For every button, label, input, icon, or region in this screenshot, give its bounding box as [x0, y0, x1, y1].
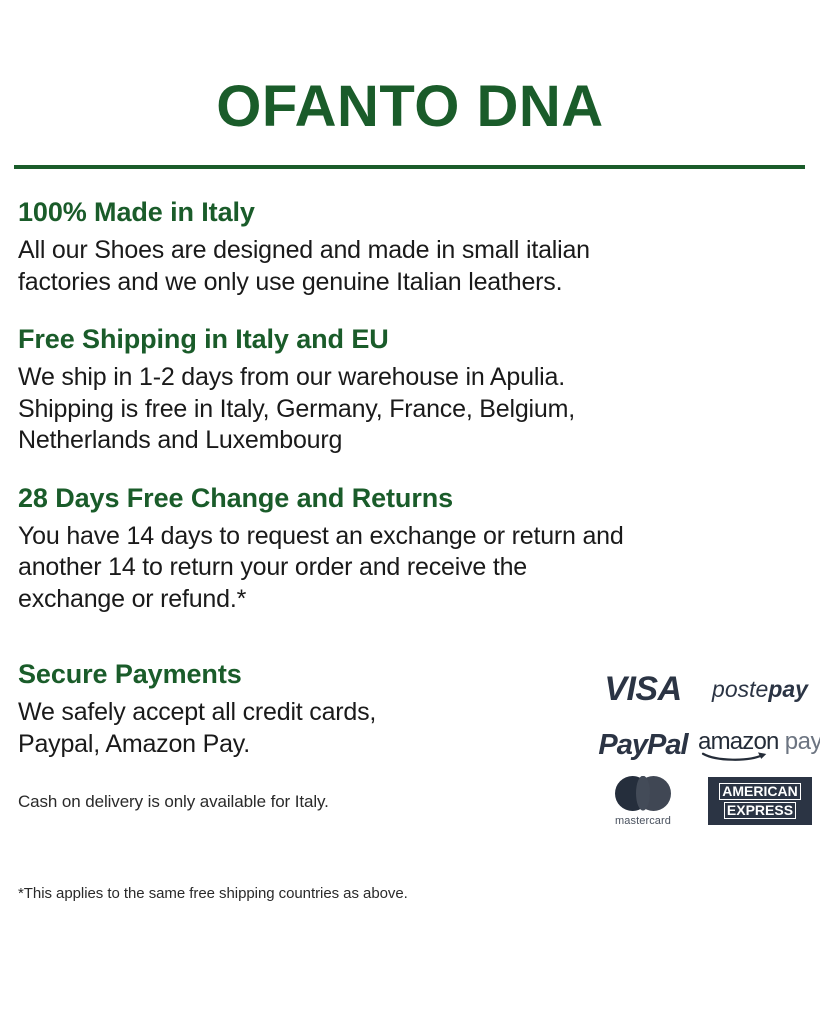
- mastercard-circles: [615, 776, 671, 811]
- visa-logo-cell: VISA: [586, 661, 700, 717]
- cash-on-delivery-note: Cash on delivery is only available for I…: [18, 792, 538, 812]
- mastercard-label: mastercard: [615, 816, 671, 827]
- amex-line-1: AMERICAN: [719, 783, 800, 800]
- body-line: Shipping is free in Italy, Germany, Fran…: [18, 394, 802, 426]
- section-heading: Free Shipping in Italy and EU: [18, 324, 802, 355]
- amex-line-2: EXPRESS: [724, 802, 796, 819]
- section-made-in-italy: 100% Made in Italy All our Shoes are des…: [18, 197, 802, 298]
- payment-logo-row: VISA postepay: [586, 661, 820, 717]
- title-divider: [14, 165, 805, 169]
- ofanto-dna-info-page: OFANTO DNA 100% Made in Italy All our Sh…: [0, 0, 820, 1024]
- body-line: factories and we only use genuine Italia…: [18, 267, 802, 299]
- section-body: All our Shoes are designed and made in s…: [18, 235, 802, 298]
- body-line: You have 14 days to request an exchange …: [18, 521, 802, 553]
- body-line: We ship in 1-2 days from our warehouse i…: [18, 362, 802, 394]
- page-header: OFANTO DNA: [0, 0, 820, 136]
- american-express-icon: AMERICAN EXPRESS: [708, 777, 812, 825]
- mastercard-icon: mastercard: [615, 776, 671, 827]
- amazon-smile-arrow-icon: [698, 751, 774, 762]
- visa-icon: VISA: [604, 672, 681, 706]
- mastercard-overlap: [636, 776, 650, 811]
- body-line: All our Shoes are designed and made in s…: [18, 235, 802, 267]
- body-line: another 14 to return your order and rece…: [18, 552, 802, 584]
- section-secure-payments: Secure Payments We safely accept all cre…: [18, 659, 802, 859]
- section-heading: 28 Days Free Change and Returns: [18, 483, 802, 514]
- section-body: We safely accept all credit cards, Paypa…: [18, 697, 538, 760]
- postepay-icon: postepay: [712, 678, 808, 701]
- body-line: Netherlands and Luxembourg: [18, 425, 802, 457]
- payments-text-block: Secure Payments We safely accept all cre…: [18, 659, 538, 812]
- body-line: Paypal, Amazon Pay.: [18, 729, 538, 761]
- postepay-bold-part: pay: [768, 676, 808, 702]
- body-line: We safely accept all credit cards,: [18, 697, 538, 729]
- payment-logo-row: mastercard AMERICAN EXPRESS: [586, 773, 820, 829]
- american-express-logo-cell: AMERICAN EXPRESS: [700, 773, 820, 829]
- postepay-light-part: poste: [712, 676, 768, 702]
- payment-logo-row: PayPal amazon pay: [586, 717, 820, 773]
- amazon-pay-wordmark: pay: [779, 728, 820, 755]
- postepay-logo-cell: postepay: [700, 661, 820, 717]
- section-heading: Secure Payments: [18, 659, 538, 690]
- section-free-shipping: Free Shipping in Italy and EU We ship in…: [18, 324, 802, 457]
- mastercard-logo-cell: mastercard: [586, 773, 700, 829]
- paypal-logo-cell: PayPal: [586, 717, 700, 773]
- content-area: 100% Made in Italy All our Shoes are des…: [0, 197, 820, 859]
- body-line: exchange or refund.*: [18, 584, 802, 616]
- section-heading: 100% Made in Italy: [18, 197, 802, 228]
- section-body: We ship in 1-2 days from our warehouse i…: [18, 362, 802, 457]
- footnote: *This applies to the same free shipping …: [18, 885, 408, 902]
- section-free-returns: 28 Days Free Change and Returns You have…: [18, 483, 802, 616]
- page-title: OFANTO DNA: [0, 78, 820, 136]
- amazon-pay-icon: amazon pay: [698, 730, 820, 761]
- amazon-pay-logo-cell: amazon pay: [700, 717, 820, 773]
- section-body: You have 14 days to request an exchange …: [18, 521, 802, 616]
- paypal-icon: PayPal: [598, 731, 687, 760]
- payment-logos: VISA postepay PayPal amazon pay: [586, 661, 820, 829]
